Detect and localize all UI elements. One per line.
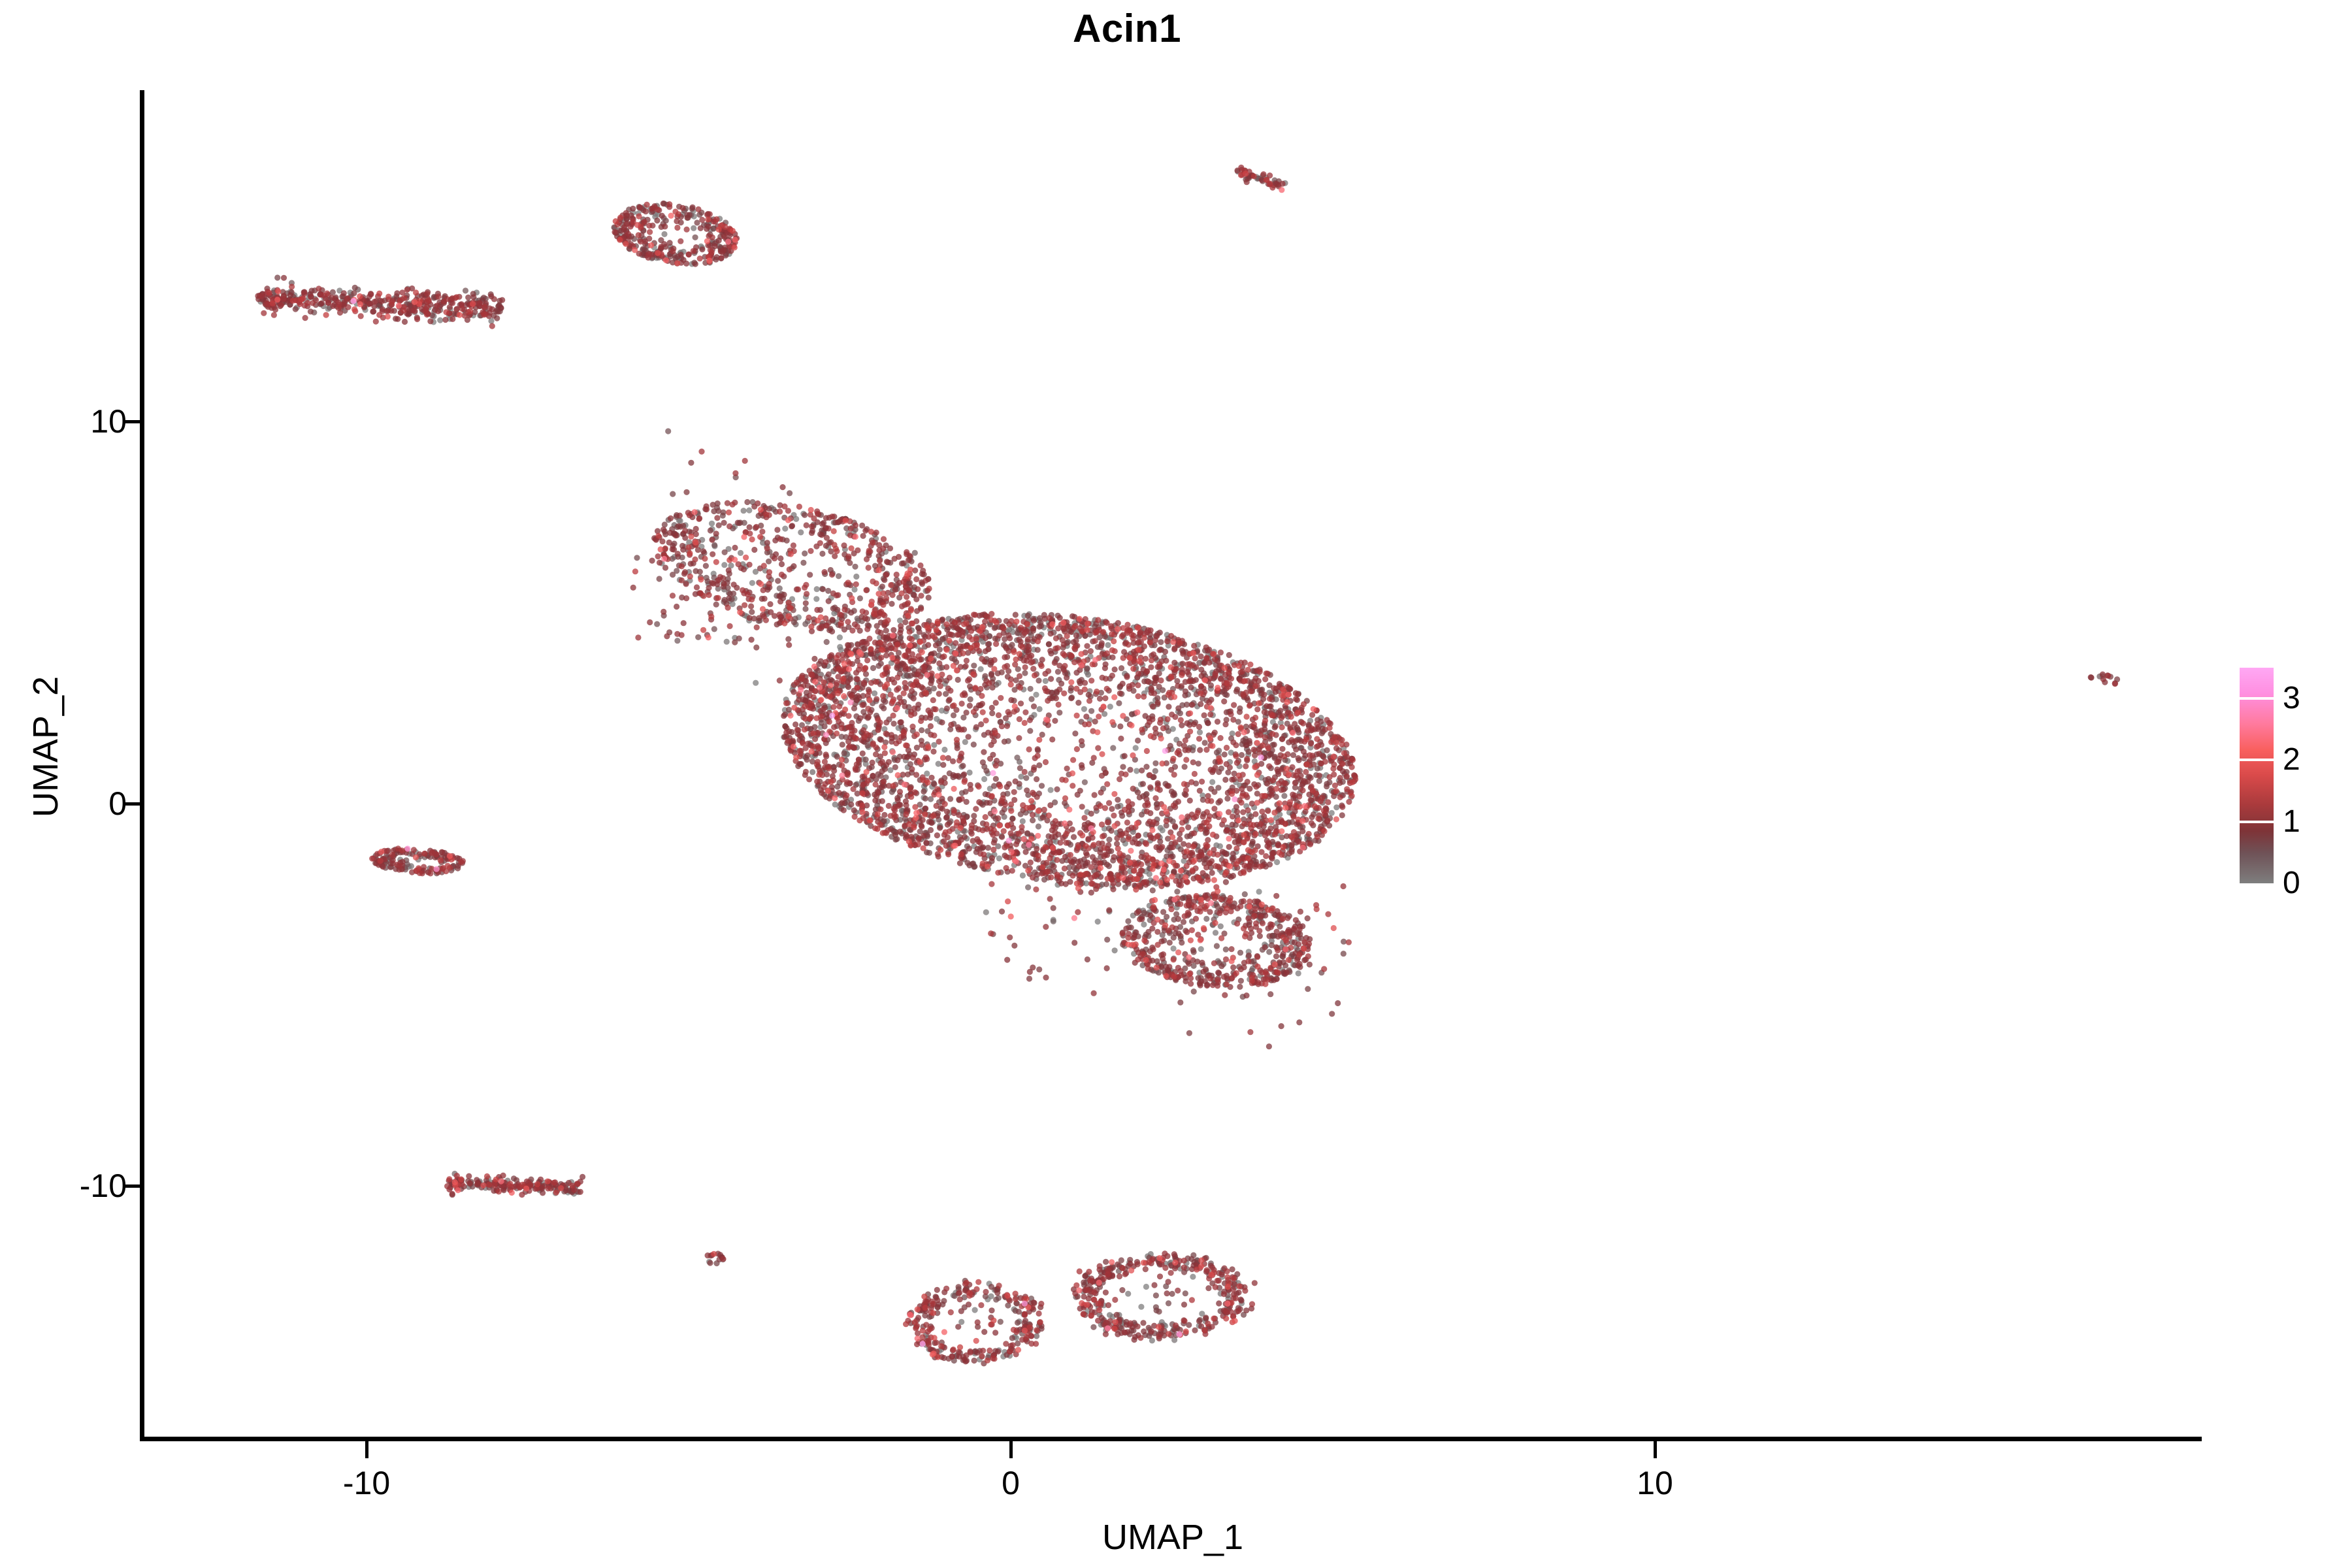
x-tick-label: 0 [913, 1463, 1109, 1503]
x-tick-label: -10 [269, 1463, 465, 1503]
x-tick-mark [1654, 1441, 1657, 1458]
y-axis-line [140, 90, 144, 1441]
x-tick-mark [365, 1441, 368, 1458]
umap-feature-plot: Acin1 -10010 -10010 UMAP_1 UMAP_2 3210 [0, 0, 2352, 1568]
x-axis-title: UMAP_1 [144, 1516, 2202, 1559]
colorbar-label: 1 [2283, 804, 2300, 840]
colorbar-label: 2 [2283, 742, 2300, 777]
plot-panel [144, 90, 2202, 1439]
colorbar-legend: 3210 [2240, 668, 2338, 890]
scatter-points-layer [144, 90, 2202, 1439]
colorbar-label: 3 [2283, 681, 2300, 716]
y-tick-label: 10 [0, 402, 127, 441]
colorbar-tick-mark [2240, 697, 2274, 700]
colorbar-gradient [2240, 668, 2274, 883]
colorbar-tick-mark [2240, 821, 2274, 823]
x-tick-mark [1009, 1441, 1013, 1458]
x-tick-label: 10 [1557, 1463, 1753, 1503]
y-tick-label: -10 [0, 1166, 127, 1205]
page-title: Acin1 [0, 5, 2254, 52]
colorbar-tick-mark [2240, 759, 2274, 761]
x-axis-line [140, 1437, 2202, 1441]
y-axis-title: UMAP_2 [24, 485, 67, 1008]
colorbar-label: 0 [2283, 866, 2300, 901]
